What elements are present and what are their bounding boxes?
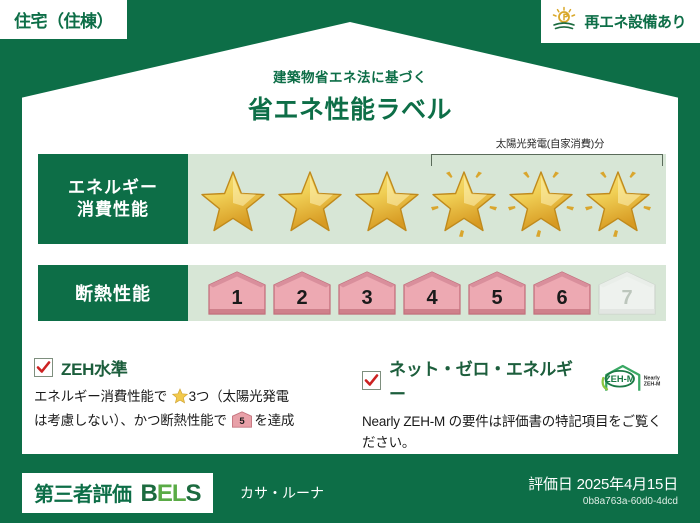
star-solar (425, 160, 502, 238)
zeh-m-logo-icon: ZEH-M Nearly ZEH-M (600, 363, 662, 398)
insulation-badge-2: 2 (271, 270, 333, 316)
star-filled (348, 160, 425, 238)
star-solar (502, 160, 579, 238)
zeh-m-logo-sub1: Nearly (644, 375, 660, 381)
page-title: 省エネ性能ラベル (0, 90, 700, 126)
third-party-eval-label: 第三者評価 (34, 478, 132, 507)
bels-certification-box: 第三者評価 BELS (22, 473, 213, 513)
insulation-badge-5: 5 (466, 270, 528, 316)
insulation-performance-row: 断熱性能 1 2 3 (38, 265, 666, 321)
sun-energy-icon (551, 6, 577, 37)
renewable-badge-label: 再エネ設備あり (584, 11, 686, 32)
insulation-badge-number: 1 (231, 287, 242, 316)
insulation-badge-number: 6 (556, 287, 567, 316)
star-solar (579, 160, 656, 238)
insulation-badge-1: 1 (206, 270, 268, 316)
zeh-standard-checkbox (34, 358, 53, 377)
evaluation-meta: 評価日 2025年4月15日 0b8a763a-60d0-4dcd (528, 473, 678, 507)
energy-rating-area: 太陽光発電(自家消費)分 (188, 154, 666, 244)
insulation-badge-6: 6 (531, 270, 593, 316)
inline-star-icon (168, 392, 188, 407)
bels-logo: BELS (141, 480, 201, 508)
net-zero-energy-title: ネット・ゼロ・エネルギー (389, 355, 588, 405)
net-zero-energy-header: ネット・ゼロ・エネルギー ZEH-M Nearly ZEH-M (362, 355, 662, 405)
energy-label-line1: エネルギー (68, 177, 158, 199)
energy-performance-row: エネルギー 消費性能 太陽光発電(自家消費)分 (38, 154, 666, 244)
zeh-m-logo-text: ZEH-M (605, 374, 635, 384)
header-subtitle: 建築物省エネ法に基づく (0, 66, 700, 86)
insulation-rating-area: 1 2 3 4 5 (188, 265, 666, 321)
solar-annotation: 太陽光発電(自家消費)分 (430, 136, 670, 151)
bels-letter-2: EL (157, 480, 186, 507)
insulation-label: 断熱性能 (75, 280, 151, 306)
property-name: カサ・ルーナ (240, 483, 324, 503)
zeh-text-c: は考慮しない）、かつ断熱性能で (34, 413, 227, 428)
solar-bracket (431, 154, 663, 166)
zeh-m-logo-sub2: ZEH-M (644, 381, 661, 387)
inline-badge-number: 5 (240, 416, 246, 427)
inline-insulation-badge-icon: 5 (228, 416, 254, 431)
insulation-badge-number: 2 (296, 287, 307, 316)
evaluation-uid: 0b8a763a-60d0-4dcd (528, 496, 678, 507)
page-title-block: 建築物省エネ法に基づく 省エネ性能ラベル (0, 66, 700, 126)
zeh-text-d: を達成 (254, 413, 294, 428)
insulation-badge-number: 7 (621, 287, 632, 316)
evaluation-date: 評価日 2025年4月15日 (528, 473, 678, 494)
insulation-badge-number: 5 (491, 287, 502, 316)
net-zero-energy-checkbox (362, 371, 381, 390)
energy-performance-label-box: エネルギー 消費性能 (38, 154, 188, 244)
zeh-standard-body: エネルギー消費性能で 3つ（太陽光発電 は考慮しない）、かつ断熱性能で 5 を達… (34, 387, 334, 435)
renewable-energy-badge: 再エネ設備あり (541, 0, 700, 43)
net-zero-energy-block: ネット・ゼロ・エネルギー ZEH-M Nearly ZEH-M Nearly Z… (362, 355, 662, 454)
net-zero-energy-body: Nearly ZEH-M の要件は評価書の特記項目をご覧ください。 (362, 412, 662, 454)
bels-letter-3: S (186, 480, 201, 507)
zeh-text-b: 3つ（太陽光発電 (189, 389, 289, 404)
energy-label-line2: 消費性能 (77, 199, 149, 221)
zeh-standard-block: ZEH水準 エネルギー消費性能で 3つ（太陽光発電 は考慮しない）、かつ断熱性能… (34, 355, 334, 435)
energy-performance-label: 住宅（住棟） 再エネ設備あり 建築物省エネ法に基づく 省エネ性能ラベル (0, 0, 700, 523)
zeh-text-a: エネルギー消費性能で (34, 389, 167, 404)
star-rating-group (188, 160, 656, 238)
insulation-badge-3: 3 (336, 270, 398, 316)
star-filled (271, 160, 348, 238)
solar-annotation-label: 太陽光発電(自家消費)分 (430, 136, 670, 151)
insulation-badge-group: 1 2 3 4 5 (188, 270, 658, 316)
insulation-badge-number: 4 (426, 287, 437, 316)
insulation-badge-7: 7 (596, 270, 658, 316)
star-filled (194, 160, 271, 238)
zeh-standard-header: ZEH水準 (34, 355, 334, 380)
insulation-badge-4: 4 (401, 270, 463, 316)
insulation-badge-number: 3 (361, 287, 372, 316)
label-footer: 第三者評価 BELS カサ・ルーナ 評価日 2025年4月15日 0b8a763… (0, 461, 700, 523)
bels-letter-1: B (141, 480, 157, 507)
building-type-tag: 住宅（住棟） (0, 0, 127, 39)
zeh-standard-title: ZEH水準 (61, 355, 128, 380)
building-type-label: 住宅（住棟） (14, 12, 113, 31)
insulation-performance-label-box: 断熱性能 (38, 265, 188, 321)
